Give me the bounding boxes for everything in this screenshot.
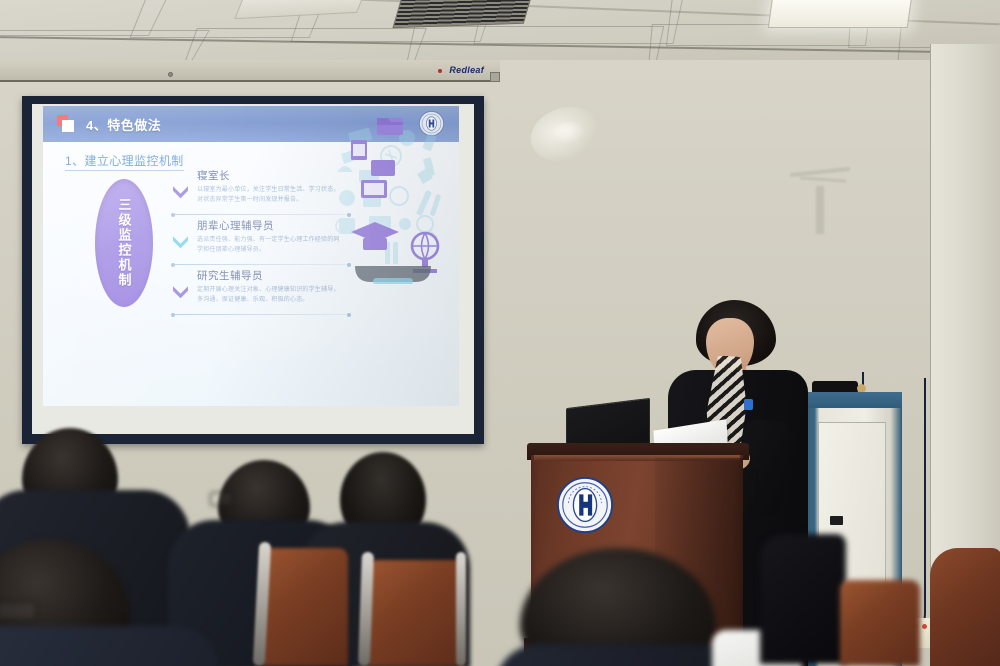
chair <box>368 560 464 666</box>
ceiling <box>0 0 1000 66</box>
slide-block-list: 寝室长 以寝室为最小单位，关注学生日常生活、学习状态，对状态异常学生第一时间发现… <box>171 168 343 318</box>
lapel-badge <box>744 399 753 410</box>
ceiling-vent <box>392 0 533 28</box>
divider <box>171 214 351 215</box>
audience-shoulders <box>0 626 220 666</box>
eyeglasses <box>0 602 36 620</box>
chevron-down-icon <box>171 284 190 299</box>
divider <box>171 264 351 265</box>
ceiling-light <box>768 0 912 28</box>
projection-screen: 4、特色做法 1、建立心理监控机制 三级监控机制 <box>22 96 484 444</box>
slide-block-heading: 寝室长 <box>197 168 343 183</box>
divider <box>171 314 351 315</box>
slide-subtitle: 1、建立心理监控机制 <box>65 152 184 171</box>
slide-block-body: 定期开展心理关注对象、心理健康知识的学生辅导，多沟通，保证健康、乐观、积极的心态… <box>197 286 343 306</box>
slide-block-heading: 研究生辅导员 <box>197 268 343 283</box>
projector-screen-housing: Redleaf <box>0 60 500 82</box>
wall-mark <box>555 122 585 144</box>
slide-block: 寝室长 以寝室为最小单位，关注学生日常生活、学习状态，对状态异常学生第一时间发现… <box>171 168 343 212</box>
wall-scuff <box>790 167 850 177</box>
slide-block-body: 选派责任强、能力强、有一定学生心理工作经验的同学担任朋辈心理辅导员。 <box>197 236 343 256</box>
seated-audience <box>0 430 1000 666</box>
audience-shoulders <box>760 534 846 664</box>
screen-surface: 4、特色做法 1、建立心理监控机制 三级监控机制 <box>32 104 474 434</box>
screen-mount-bracket <box>490 72 500 82</box>
presentation-slide: 4、特色做法 1、建立心理监控机制 三级监控机制 <box>43 106 459 406</box>
slide-marker-icon <box>57 115 77 133</box>
ceiling-tile <box>0 30 210 64</box>
screw <box>168 72 173 77</box>
wall-scuff <box>816 186 824 234</box>
status-indicator-dot <box>438 69 442 73</box>
wall-scuff <box>800 176 846 182</box>
slide-badge: 三级监控机制 <box>95 179 153 307</box>
slide-block-heading: 朋辈心理辅导员 <box>197 218 343 233</box>
chair <box>840 580 920 666</box>
conference-room-scene: Redleaf 4、特色做法 <box>0 0 1000 666</box>
slide-badge-label: 三级监控机制 <box>115 198 134 288</box>
slide-block: 研究生辅导员 定期开展心理关注对象、心理健康知识的学生辅导，多沟通，保证健康、乐… <box>171 268 343 312</box>
slide-title: 4、特色做法 <box>86 115 161 134</box>
slide-block: 朋辈心理辅导员 选派责任强、能力强、有一定学生心理工作经验的同学担任朋辈心理辅导… <box>171 218 343 262</box>
lightbulb-education-icon-cluster <box>329 114 457 284</box>
chevron-down-icon <box>171 234 190 249</box>
eyeglasses <box>210 492 232 506</box>
chevron-down-icon <box>171 184 190 199</box>
chair-frame <box>456 552 466 666</box>
slide-block-body: 以寝室为最小单位，关注学生日常生活、学习状态，对状态异常学生第一时间发现并报告。 <box>197 186 343 206</box>
chair <box>262 548 348 666</box>
screen-brand-label: Redleaf <box>449 65 484 75</box>
